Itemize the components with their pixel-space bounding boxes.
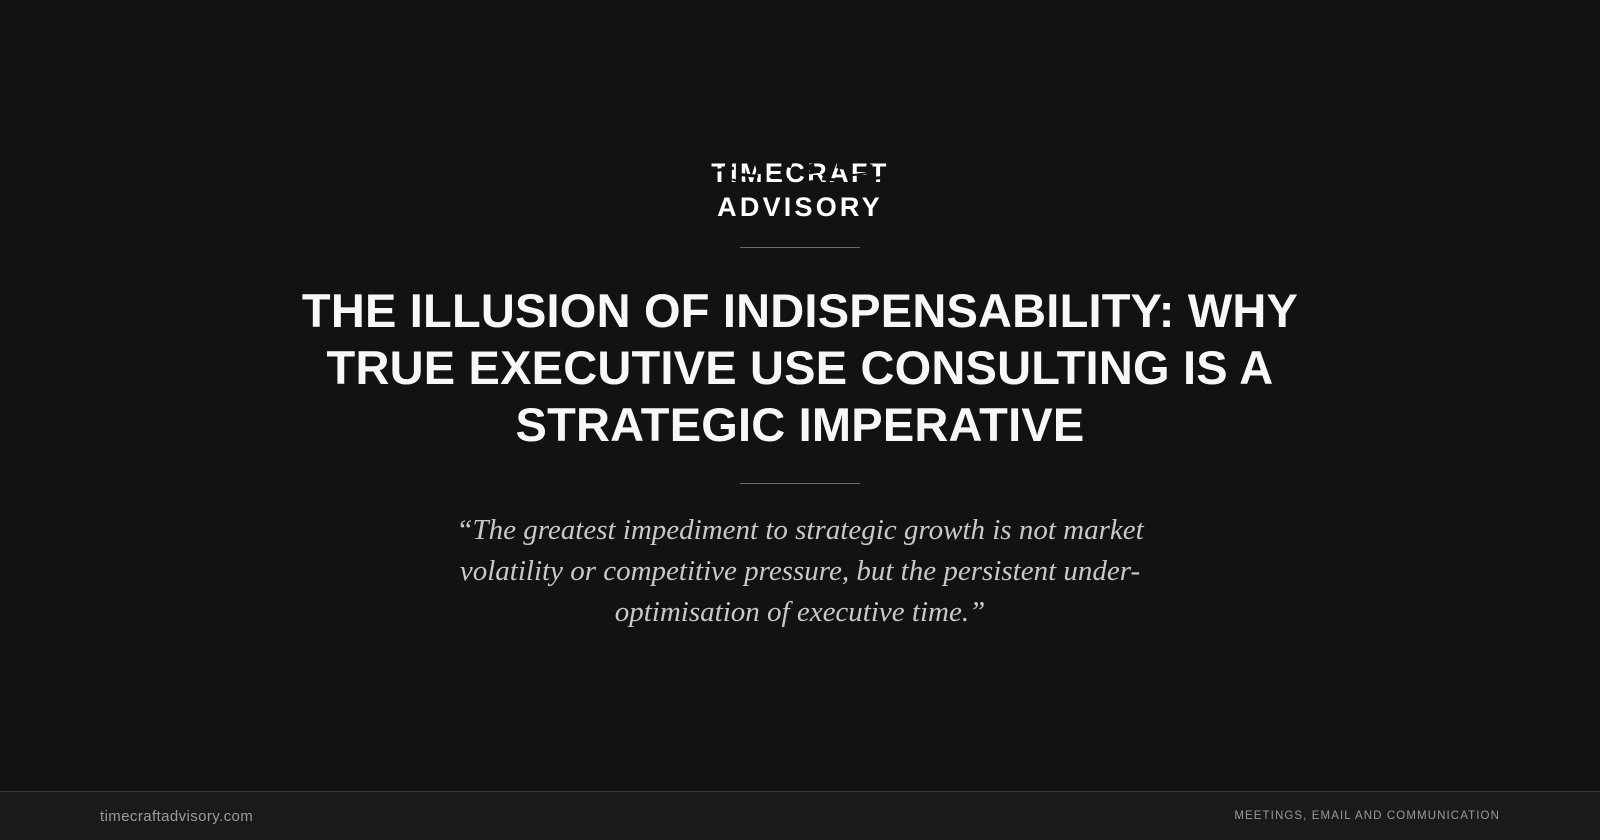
slide-title: THE ILLUSION OF INDISPENSABILITY: WHY TR… (290, 282, 1310, 453)
presentation-slide: TIMECRAFT ADVISORY THE ILLUSION OF INDIS… (0, 0, 1600, 840)
brand-logo-primary-text: TIMECRAFT (711, 160, 889, 187)
slide-content-stage: TIMECRAFT ADVISORY THE ILLUSION OF INDIS… (0, 0, 1600, 790)
slide-pull-quote: “The greatest impediment to strategic gr… (450, 510, 1150, 633)
divider-under-brand (740, 247, 860, 248)
divider-under-title (740, 483, 860, 484)
footer-section-label: MEETINGS, EMAIL AND COMMUNICATION (1234, 810, 1500, 822)
brand-logo: TIMECRAFT ADVISORY (710, 160, 890, 221)
brand-logo-secondary: ADVISORY (717, 194, 883, 221)
footer-website: timecraftadvisory.com (100, 808, 253, 825)
brand-logo-primary: TIMECRAFT (710, 160, 890, 187)
slide-footer: timecraftadvisory.com MEETINGS, EMAIL AN… (0, 791, 1600, 840)
